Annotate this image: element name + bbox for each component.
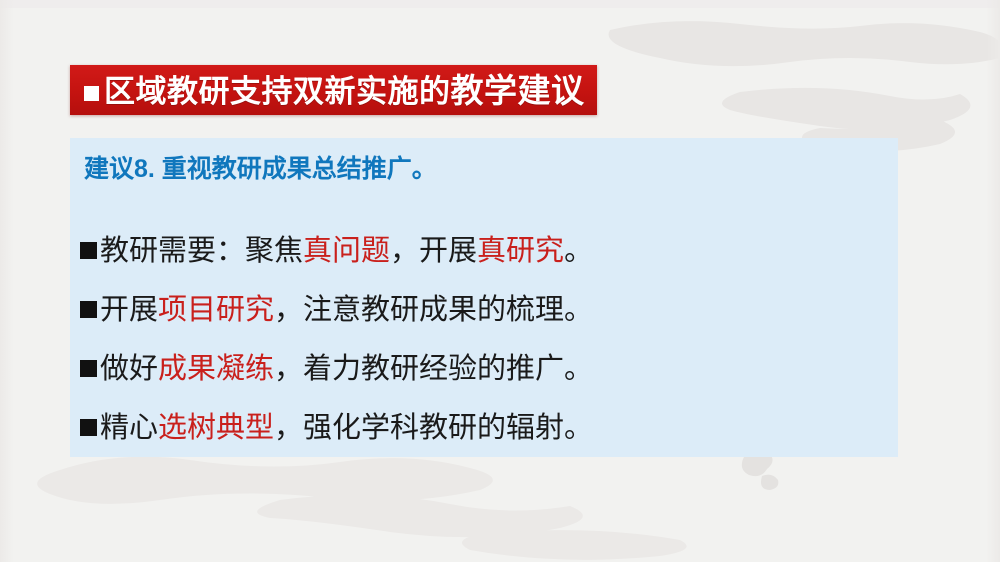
list-item: 开展项目研究，注意教研成果的梳理。 xyxy=(80,281,898,340)
list-item: 精心选树典型，强化学科教研的辐射。 xyxy=(80,399,898,458)
square-bullet-icon xyxy=(80,301,97,318)
page-title-plain: 区域教研支持双新实施的 xyxy=(104,74,451,109)
list-item-highlight-2: 真研究 xyxy=(477,235,564,267)
list-item: 做好成果凝练，着力教研经验的推广。 xyxy=(80,340,898,399)
left-edge-sheen xyxy=(0,0,14,562)
list-item-lead: 精心 xyxy=(100,412,158,444)
list-item-lead: 教研需要：聚焦 xyxy=(100,235,303,267)
slide-canvas: 区域教研支持双新实施的教学建议 建议8. 重视教研成果总结推广。 教研需要：聚焦… xyxy=(0,0,1000,562)
square-bullet-icon xyxy=(84,86,99,101)
list-item-highlight: 项目研究 xyxy=(158,294,274,326)
list-item: 教研需要：聚焦真问题，开展真研究。 xyxy=(80,222,898,281)
square-bullet-icon xyxy=(80,419,97,436)
square-bullet-icon xyxy=(80,360,97,377)
panel-subtitle: 建议8. 重视教研成果总结推广。 xyxy=(84,154,898,184)
list-item-middle: ，开展 xyxy=(390,235,477,267)
list-item-highlight: 真问题 xyxy=(303,235,390,267)
list-item-tail: ，注意教研成果的梳理。 xyxy=(274,294,593,326)
recommendation-list: 教研需要：聚焦真问题，开展真研究。 开展项目研究，注意教研成果的梳理。 做好成果… xyxy=(70,222,898,458)
list-item-highlight: 成果凝练 xyxy=(158,353,274,385)
list-item-tail: 。 xyxy=(564,235,593,267)
page-title-emphasis: 教学建议 xyxy=(451,72,585,109)
list-item-lead: 做好 xyxy=(100,353,158,385)
list-item-tail: ，强化学科教研的辐射。 xyxy=(274,412,593,444)
page-title: 区域教研支持双新实施的教学建议 xyxy=(84,74,585,107)
square-bullet-icon xyxy=(80,242,97,259)
list-item-highlight: 选树典型 xyxy=(158,412,274,444)
right-edge-sheen xyxy=(986,0,1000,562)
title-banner: 区域教研支持双新实施的教学建议 xyxy=(70,65,597,115)
list-item-lead: 开展 xyxy=(100,294,158,326)
list-item-tail: ，着力教研经验的推广。 xyxy=(274,353,593,385)
content-panel: 建议8. 重视教研成果总结推广。 教研需要：聚焦真问题，开展真研究。 开展项目研… xyxy=(70,138,898,457)
